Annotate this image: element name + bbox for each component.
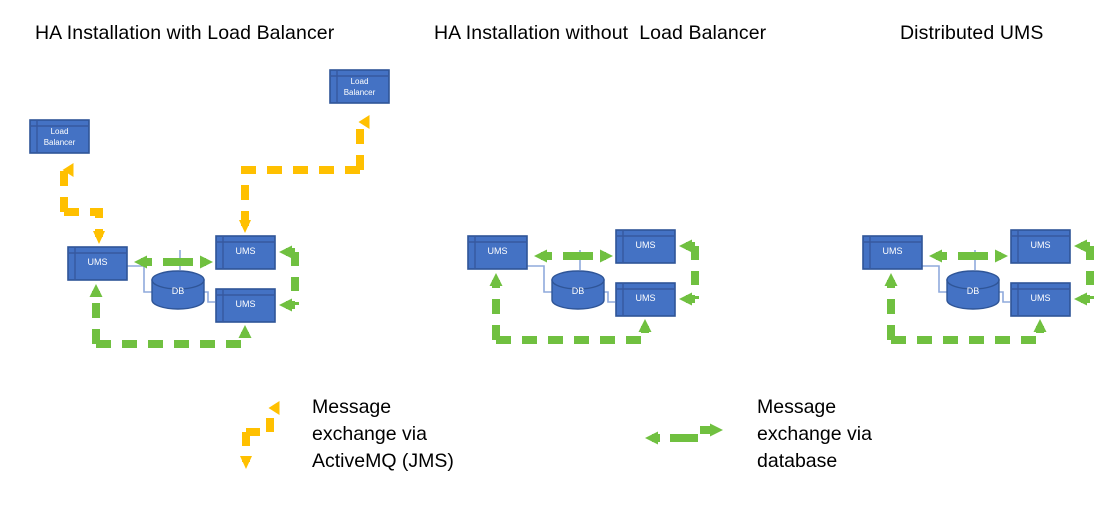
legend-jms-arrow [246, 408, 270, 462]
diagram-ha-with-load-balancer [30, 70, 389, 344]
diagram-title-ha-without-load-balancer: HA Installation without Load Balancer [434, 22, 766, 45]
ums-left-node[interactable] [68, 247, 127, 280]
diagram-distributed-ums [863, 230, 1090, 340]
legend-jms-label: Message exchange via ActiveMQ (JMS) [312, 394, 512, 475]
ums-right-top-node[interactable] [1011, 230, 1070, 263]
database-node[interactable] [152, 271, 204, 309]
ums-right-top-node[interactable] [616, 230, 675, 263]
load-balancer-left-node[interactable] [30, 120, 89, 153]
diagram-title-ha-with-load-balancer: HA Installation with Load Balancer [35, 22, 334, 45]
ums-right-bottom-node[interactable] [216, 289, 275, 322]
jms-link-left [64, 170, 99, 237]
ums-right-bottom-node[interactable] [1011, 283, 1070, 316]
jms-link-right [245, 122, 360, 226]
diagram-ha-without-load-balancer [468, 230, 695, 340]
ums-right-bottom-node[interactable] [616, 283, 675, 316]
ums-right-top-node[interactable] [216, 236, 275, 269]
load-balancer-right-node[interactable] [330, 70, 389, 103]
legend-database-arrow [652, 430, 716, 438]
ums-left-node[interactable] [863, 236, 922, 269]
database-node[interactable] [947, 271, 999, 309]
ums-left-node[interactable] [468, 236, 527, 269]
legend-database-label: Message exchange via database [757, 394, 957, 475]
diagram-title-distributed-ums: Distributed UMS [900, 22, 1043, 45]
database-node[interactable] [552, 271, 604, 309]
